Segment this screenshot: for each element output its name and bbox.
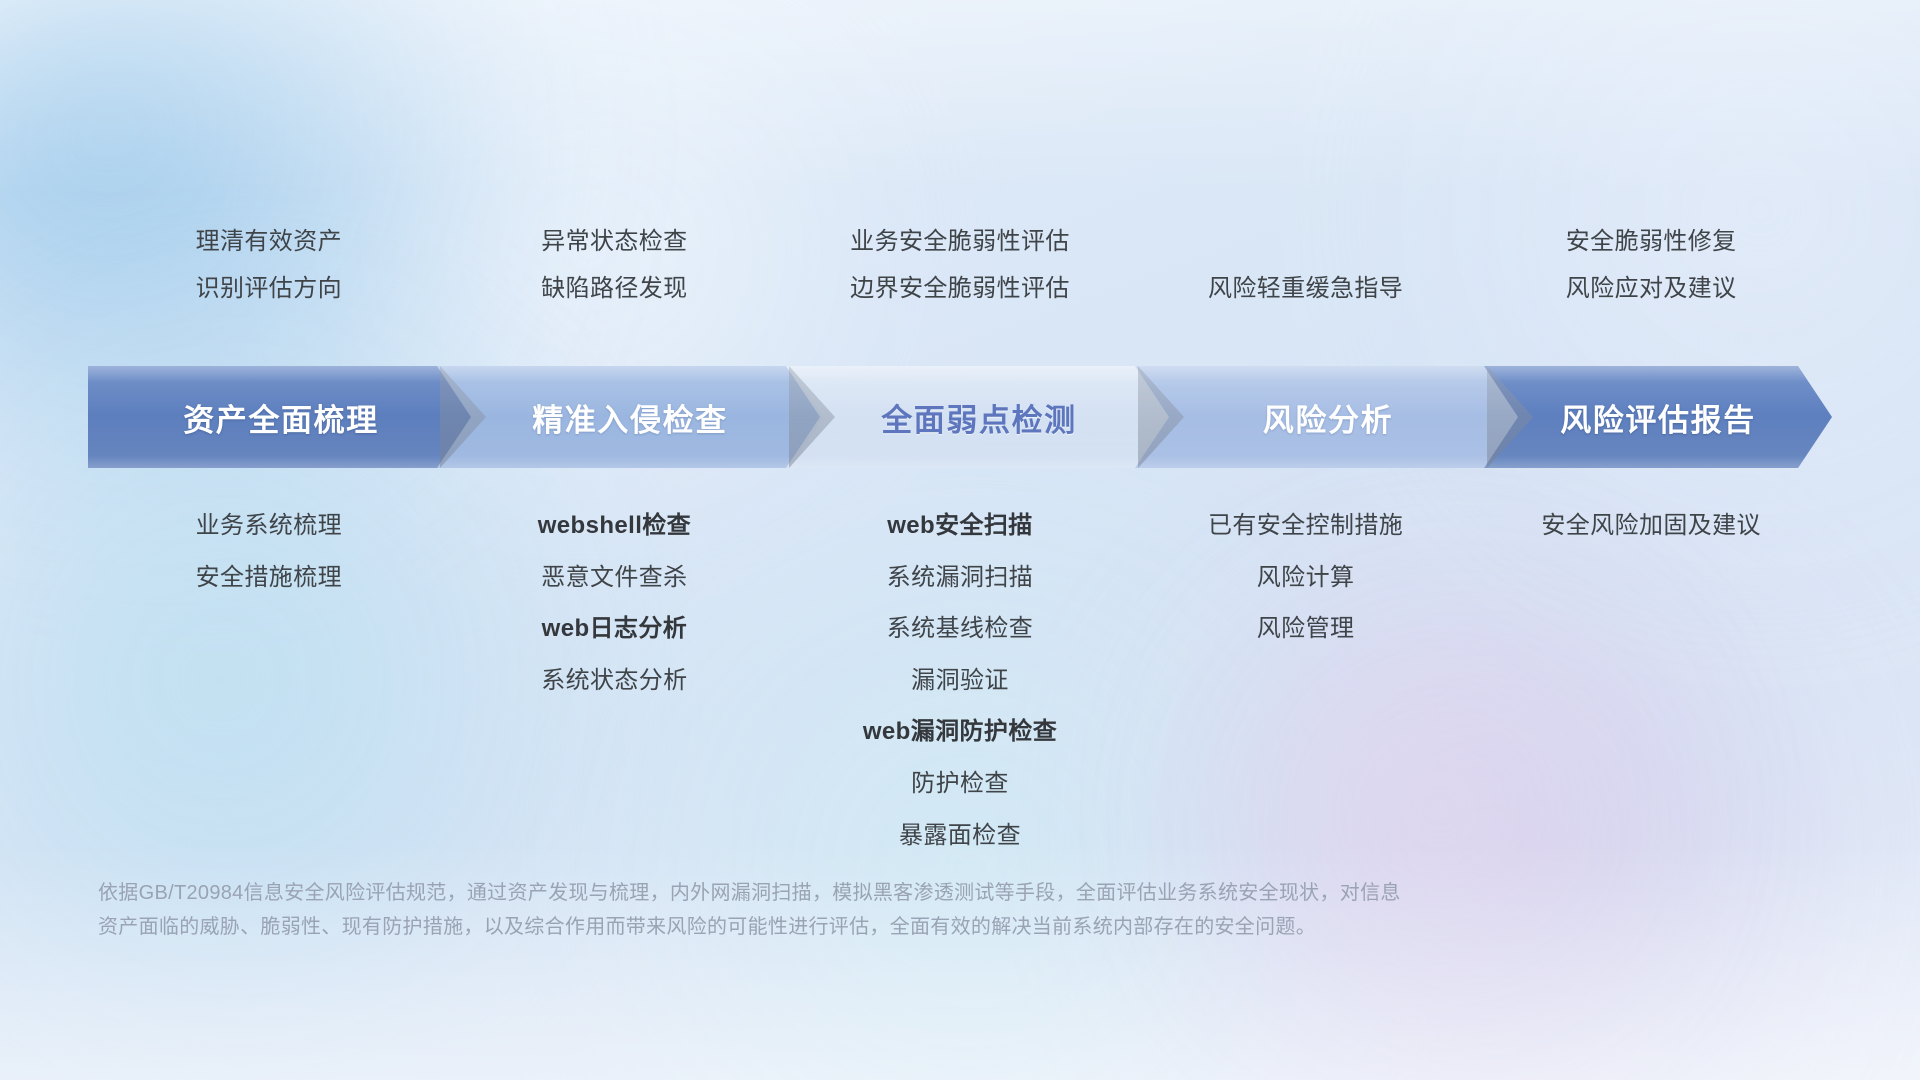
output-label: 系统漏洞扫描 [787, 564, 1133, 592]
output-label: 恶意文件查杀 [442, 564, 788, 592]
output-label: 已有安全控制措施 [1133, 512, 1479, 540]
process-outputs-step-3: web安全扫描 系统漏洞扫描 系统基线检查 漏洞验证 web漏洞防护检查 防护检… [787, 512, 1133, 849]
output-label: 安全措施梳理 [96, 564, 442, 592]
process-diagram: 理清有效资产 识别评估方向 异常状态检查 缺陷路径发现 业务安全脆弱性评估 边界… [0, 0, 1920, 1080]
process-step-1[interactable]: 资产全面梳理 [88, 366, 474, 468]
process-step-5-label: 风险评估报告 [1560, 395, 1756, 440]
process-inputs-step-5: 安全脆弱性修复 风险应对及建议 [1478, 228, 1824, 302]
process-step-3-label: 全面弱点检测 [881, 395, 1077, 440]
input-label: 安全脆弱性修复 [1478, 228, 1824, 256]
process-outputs-step-1: 业务系统梳理 安全措施梳理 [96, 512, 442, 591]
footer-note: 依据GB/T20984信息安全风险评估规范，通过资产发现与梳理，内外网漏洞扫描，… [98, 876, 1618, 944]
process-step-4[interactable]: 风险分析 [1135, 366, 1521, 468]
output-label: 系统状态分析 [442, 667, 788, 695]
output-label: web安全扫描 [787, 512, 1133, 540]
footer-note-line-2: 资产面临的威胁、脆弱性、现有防护措施，以及综合作用而带来风险的可能性进行评估，全… [98, 910, 1618, 944]
process-step-3[interactable]: 全面弱点检测 [786, 366, 1172, 468]
output-label: web日志分析 [442, 615, 788, 643]
input-label: 缺陷路径发现 [442, 275, 788, 303]
input-label: 边界安全脆弱性评估 [787, 275, 1133, 303]
process-step-1-label: 资产全面梳理 [183, 395, 379, 440]
process-step-2-label: 精准入侵检查 [532, 395, 728, 440]
input-label: 风险应对及建议 [1478, 275, 1824, 303]
output-label: 业务系统梳理 [96, 512, 442, 540]
output-label: 风险计算 [1133, 564, 1479, 592]
process-inputs-row: 理清有效资产 识别评估方向 异常状态检查 缺陷路径发现 业务安全脆弱性评估 边界… [96, 228, 1824, 302]
output-label: 漏洞验证 [787, 667, 1133, 695]
input-label: 识别评估方向 [96, 275, 442, 303]
output-label: 风险管理 [1133, 615, 1479, 643]
output-label: 防护检查 [787, 770, 1133, 798]
process-step-2[interactable]: 精准入侵检查 [437, 366, 823, 468]
output-label: web漏洞防护检查 [787, 718, 1133, 746]
process-inputs-step-4: 风险轻重缓急指导 [1133, 228, 1479, 302]
output-label: webshell检查 [442, 512, 788, 540]
process-outputs-step-4: 已有安全控制措施 风险计算 风险管理 [1133, 512, 1479, 643]
input-label: 异常状态检查 [442, 228, 788, 256]
process-step-4-label: 风险分析 [1263, 395, 1393, 440]
input-label: 业务安全脆弱性评估 [787, 228, 1133, 256]
process-outputs-step-5: 安全风险加固及建议 [1478, 512, 1824, 540]
process-outputs-row: 业务系统梳理 安全措施梳理 webshell检查 恶意文件查杀 web日志分析 … [96, 512, 1824, 849]
input-label: 风险轻重缓急指导 [1133, 275, 1479, 303]
process-inputs-step-1: 理清有效资产 识别评估方向 [96, 228, 442, 302]
output-label: 系统基线检查 [787, 615, 1133, 643]
process-inputs-step-2: 异常状态检查 缺陷路径发现 [442, 228, 788, 302]
process-outputs-step-2: webshell检查 恶意文件查杀 web日志分析 系统状态分析 [442, 512, 788, 694]
output-label: 安全风险加固及建议 [1478, 512, 1824, 540]
process-step-5[interactable]: 风险评估报告 [1484, 366, 1832, 468]
process-stage-band: 资产全面梳理 精准入侵检查 全面弱点检测 风险分析 风险评估报告 [88, 366, 1832, 468]
input-label: 理清有效资产 [96, 228, 442, 256]
process-inputs-step-3: 业务安全脆弱性评估 边界安全脆弱性评估 [787, 228, 1133, 302]
footer-note-line-1: 依据GB/T20984信息安全风险评估规范，通过资产发现与梳理，内外网漏洞扫描，… [98, 876, 1618, 910]
output-label: 暴露面检查 [787, 822, 1133, 850]
